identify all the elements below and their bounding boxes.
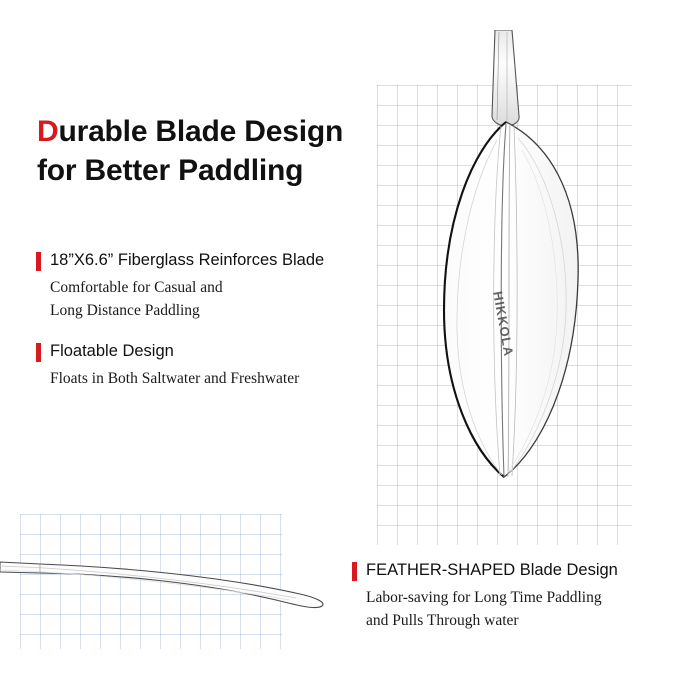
bullet-bar-icon bbox=[36, 343, 41, 362]
feature-1-subtext: Comfortable for Casual and Long Distance… bbox=[50, 276, 386, 322]
shaft-outline bbox=[0, 562, 323, 608]
feature-item-2: Floatable Design Floats in Both Saltwate… bbox=[36, 341, 386, 390]
bullet-bar-icon bbox=[352, 562, 357, 581]
feature-2-subtext: Floats in Both Saltwater and Freshwater bbox=[50, 367, 386, 390]
product-infographic-page: HIKKOLA Durable Blade Design for Better … bbox=[0, 0, 679, 679]
feature-2-title: Floatable Design bbox=[50, 341, 174, 361]
feature-2-subtext-line-1: Floats in Both Saltwater and Freshwater bbox=[50, 367, 386, 390]
kayak-paddle-blade-illustration bbox=[400, 30, 620, 520]
feature-1-subtext-line-1: Comfortable for Casual and bbox=[50, 276, 386, 299]
feature-1-subtext-line-2: Long Distance Paddling bbox=[50, 299, 386, 322]
headline-line-2: for Better Paddling bbox=[37, 154, 303, 187]
feature-1-heading: 18”X6.6” Fiberglass Reinforces Blade bbox=[36, 250, 386, 271]
headline-drop-cap: D bbox=[37, 115, 58, 148]
blade-outline bbox=[444, 122, 578, 477]
page-title: Durable Blade Design for Better Paddling bbox=[37, 112, 377, 190]
feature-item-3: FEATHER-SHAPED Blade Design Labor-saving… bbox=[352, 560, 672, 632]
feature-3-subtext-line-2: and Pulls Through water bbox=[366, 609, 672, 632]
blade-shaft-stub bbox=[492, 30, 519, 126]
headline-line-1: urable Blade Design bbox=[58, 115, 343, 148]
feature-item-1: 18”X6.6” Fiberglass Reinforces Blade Com… bbox=[36, 250, 386, 322]
feature-1-title: 18”X6.6” Fiberglass Reinforces Blade bbox=[50, 250, 324, 270]
kayak-paddle-shaft-illustration bbox=[0, 540, 340, 640]
feature-3-subtext: Labor-saving for Long Time Paddling and … bbox=[366, 586, 672, 632]
bullet-bar-icon bbox=[36, 252, 41, 271]
feature-3-subtext-line-1: Labor-saving for Long Time Paddling bbox=[366, 586, 672, 609]
feature-2-heading: Floatable Design bbox=[36, 341, 386, 362]
feature-3-title: FEATHER-SHAPED Blade Design bbox=[366, 560, 618, 580]
feature-3-heading: FEATHER-SHAPED Blade Design bbox=[352, 560, 672, 581]
